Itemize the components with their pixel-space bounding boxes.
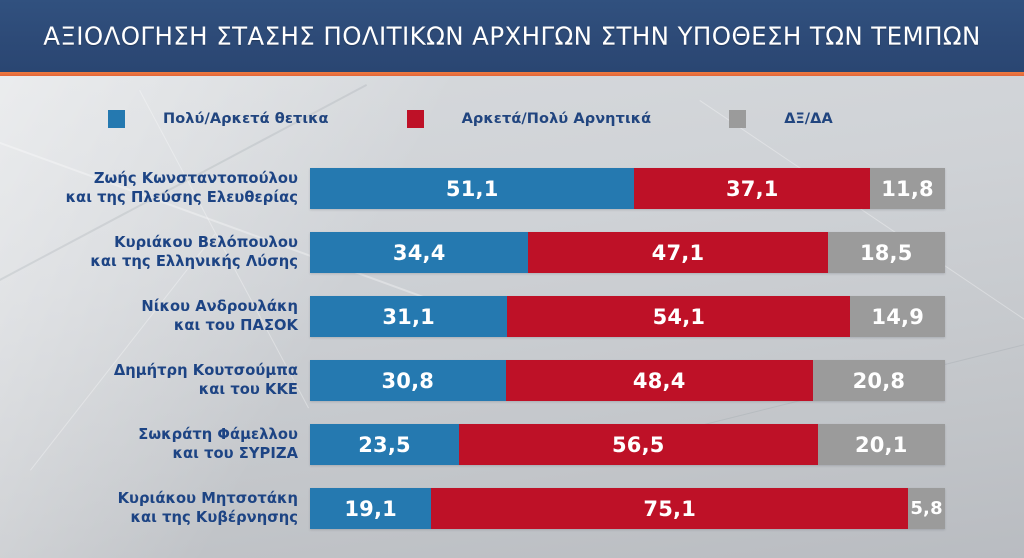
row-label: Κυριάκου Μητσοτάκη και της Κυβέρνησης [20,478,298,538]
stacked-bar: 51,1 37,1 11,8 [310,168,945,209]
bar-segment-dontknow: 20,1 [818,424,946,465]
row-label: Ζωής Κωνσταντοπούλου και της Πλεύσης Ελε… [20,158,298,218]
legend-item-positive: Πολύ/Αρκετά θετικα [108,110,329,128]
bar-chart-rows: Ζωής Κωνσταντοπούλου και της Πλεύσης Ελε… [0,158,1024,542]
bar-segment-dontknow: 20,8 [813,360,945,401]
row-label-line1: Κυριάκου Μητσοτάκη [118,489,298,508]
legend-item-dontknow: ΔΞ/ΔΑ [729,110,833,128]
bar-segment-positive: 51,1 [310,168,634,209]
row-label: Σωκράτη Φάμελλου και του ΣΥΡΙΖΑ [20,414,298,474]
square-swatch-red-icon [407,110,424,128]
bar-segment-negative: 54,1 [507,296,850,337]
bar-segment-positive: 19,1 [310,488,431,529]
bar-segment-negative: 48,4 [506,360,813,401]
bar-segment-negative: 56,5 [459,424,817,465]
row-label-line1: Νίκου Ανδρουλάκη [141,297,298,316]
row-label-line2: και της Κυβέρνησης [131,508,298,527]
row-label: Κυριάκου Βελόπουλου και της Ελληνικής Λύ… [20,222,298,282]
legend-label-negative: Αρκετά/Πολύ Αρνητικά [462,111,652,127]
bar-segment-positive: 23,5 [310,424,459,465]
bar-segment-negative: 37,1 [634,168,870,209]
row-label-line2: και του ΚΚΕ [199,380,298,399]
legend-label-dontknow: ΔΞ/ΔΑ [784,111,833,127]
bar-segment-dontknow: 14,9 [850,296,945,337]
chart-row: Κυριάκου Βελόπουλου και της Ελληνικής Λύ… [0,222,1024,282]
stacked-bar: 19,1 75,1 5,8 [310,488,945,529]
bar-segment-dontknow: 18,5 [828,232,945,273]
bar-segment-positive: 30,8 [310,360,506,401]
square-swatch-gray-icon [729,110,746,128]
legend-item-negative: Αρκετά/Πολύ Αρνητικά [407,110,652,128]
chart-row: Δημήτρη Κουτσούμπα και του ΚΚΕ 30,8 48,4… [0,350,1024,410]
chart-row: Κυριάκου Μητσοτάκη και της Κυβέρνησης 19… [0,478,1024,538]
chart-row: Ζωής Κωνσταντοπούλου και της Πλεύσης Ελε… [0,158,1024,218]
stacked-bar: 31,1 54,1 14,9 [310,296,945,337]
row-label-line1: Κυριάκου Βελόπουλου [114,233,298,252]
row-label-line1: Δημήτρη Κουτσούμπα [114,361,298,380]
chart-row: Σωκράτη Φάμελλου και του ΣΥΡΙΖΑ 23,5 56,… [0,414,1024,474]
stacked-bar: 30,8 48,4 20,8 [310,360,945,401]
square-swatch-blue-icon [108,110,125,128]
legend-label-positive: Πολύ/Αρκετά θετικα [163,111,329,127]
bar-segment-positive: 31,1 [310,296,507,337]
bar-segment-negative: 47,1 [528,232,827,273]
row-label-line1: Ζωής Κωνσταντοπούλου [94,169,298,188]
bar-segment-negative: 75,1 [431,488,908,529]
chart-legend: Πολύ/Αρκετά θετικα Αρκετά/Πολύ Αρνητικά … [108,110,833,128]
page-title: ΑΞΙΟΛΟΓΗΣΗ ΣΤΑΣΗΣ ΠΟΛΙΤΙΚΩΝ ΑΡΧΗΓΩΝ ΣΤΗΝ… [0,22,1024,51]
row-label-line2: και του ΠΑΣΟΚ [174,316,298,335]
row-label-line2: και του ΣΥΡΙΖΑ [173,444,298,463]
chart-row: Νίκου Ανδρουλάκη και του ΠΑΣΟΚ 31,1 54,1… [0,286,1024,346]
row-label-line1: Σωκράτη Φάμελλου [138,425,298,444]
chart-header-bar: ΑΞΙΟΛΟΓΗΣΗ ΣΤΑΣΗΣ ΠΟΛΙΤΙΚΩΝ ΑΡΧΗΓΩΝ ΣΤΗΝ… [0,0,1024,72]
row-label-line2: και της Πλεύσης Ελευθερίας [66,188,298,207]
chart-canvas: ΑΞΙΟΛΟΓΗΣΗ ΣΤΑΣΗΣ ΠΟΛΙΤΙΚΩΝ ΑΡΧΗΓΩΝ ΣΤΗΝ… [0,0,1024,558]
bar-segment-dontknow: 5,8 [908,488,945,529]
stacked-bar: 34,4 47,1 18,5 [310,232,945,273]
row-label-line2: και της Ελληνικής Λύσης [90,252,298,271]
bar-segment-dontknow: 11,8 [870,168,945,209]
row-label: Δημήτρη Κουτσούμπα και του ΚΚΕ [20,350,298,410]
bar-segment-positive: 34,4 [310,232,528,273]
row-label: Νίκου Ανδρουλάκη και του ΠΑΣΟΚ [20,286,298,346]
stacked-bar: 23,5 56,5 20,1 [310,424,945,465]
